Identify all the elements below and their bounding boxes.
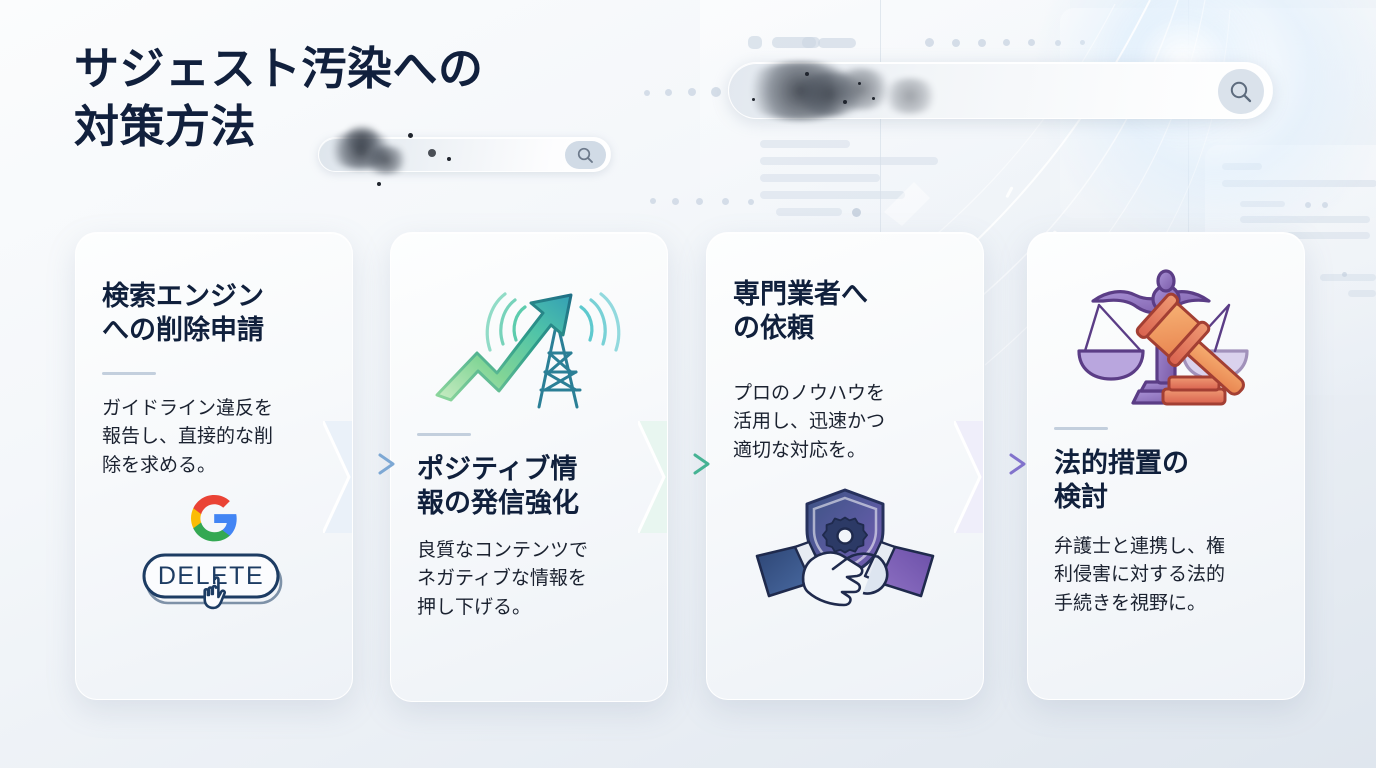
step-card-2-title: ポジティブ情 報の発信強化 xyxy=(417,452,641,521)
step-card-3-description: プロのノウハウを 活用し、迅速かつ 適切な対応を。 xyxy=(733,380,957,467)
steps-container: 検索エンジン への削除申請 ガイドライン違反を 報告し、直接的な削 除を求める。… xyxy=(0,0,1376,768)
step-card-1-title: 検索エンジン への削除申請 xyxy=(102,279,326,348)
step-card-4[interactable]: 法的措置の 検討 弁護士と連携し、権 利侵害に対する法的 手続きを視野に。 xyxy=(1027,232,1305,700)
step-card-4-divider xyxy=(1054,427,1108,430)
step-card-3[interactable]: 専門業者へ の依頼 プロのノウハウを 活用し、迅速かつ 適切な対応を。 xyxy=(706,232,984,700)
arrow-step3-to-step4 xyxy=(967,444,1035,484)
step-card-4-description: 弁護士と連携し、権 利侵害に対する法的 手続きを視野に。 xyxy=(1054,533,1278,620)
handshake-shield-gear-icon xyxy=(733,484,957,614)
step-card-2-description: 良質なコンテンツで ネガティブな情報を 押し下げる。 xyxy=(417,537,641,624)
scales-gavel-icon xyxy=(1054,267,1278,417)
step-card-2-divider xyxy=(417,433,471,436)
svg-text:DELETE: DELETE xyxy=(158,562,264,590)
step-card-4-title: 法的措置の 検討 xyxy=(1054,446,1278,515)
step-card-1-divider xyxy=(102,372,156,375)
arrow-step2-to-step3 xyxy=(651,444,719,484)
step-card-1[interactable]: 検索エンジン への削除申請 ガイドライン違反を 報告し、直接的な削 除を求める。… xyxy=(75,232,353,700)
growth-arrow-broadcast-tower-icon xyxy=(417,269,641,419)
step-card-1-description: ガイドライン違反を 報告し、直接的な削 除を求める。 xyxy=(102,395,326,482)
google-delete-button-icon: DELETE xyxy=(102,493,326,633)
step-card-2[interactable]: ポジティブ情 報の発信強化 良質なコンテンツで ネガティブな情報を 押し下げる。 xyxy=(390,232,668,702)
step-card-3-title: 専門業者へ の依頼 xyxy=(733,277,957,346)
arrow-step1-to-step2 xyxy=(336,444,404,484)
